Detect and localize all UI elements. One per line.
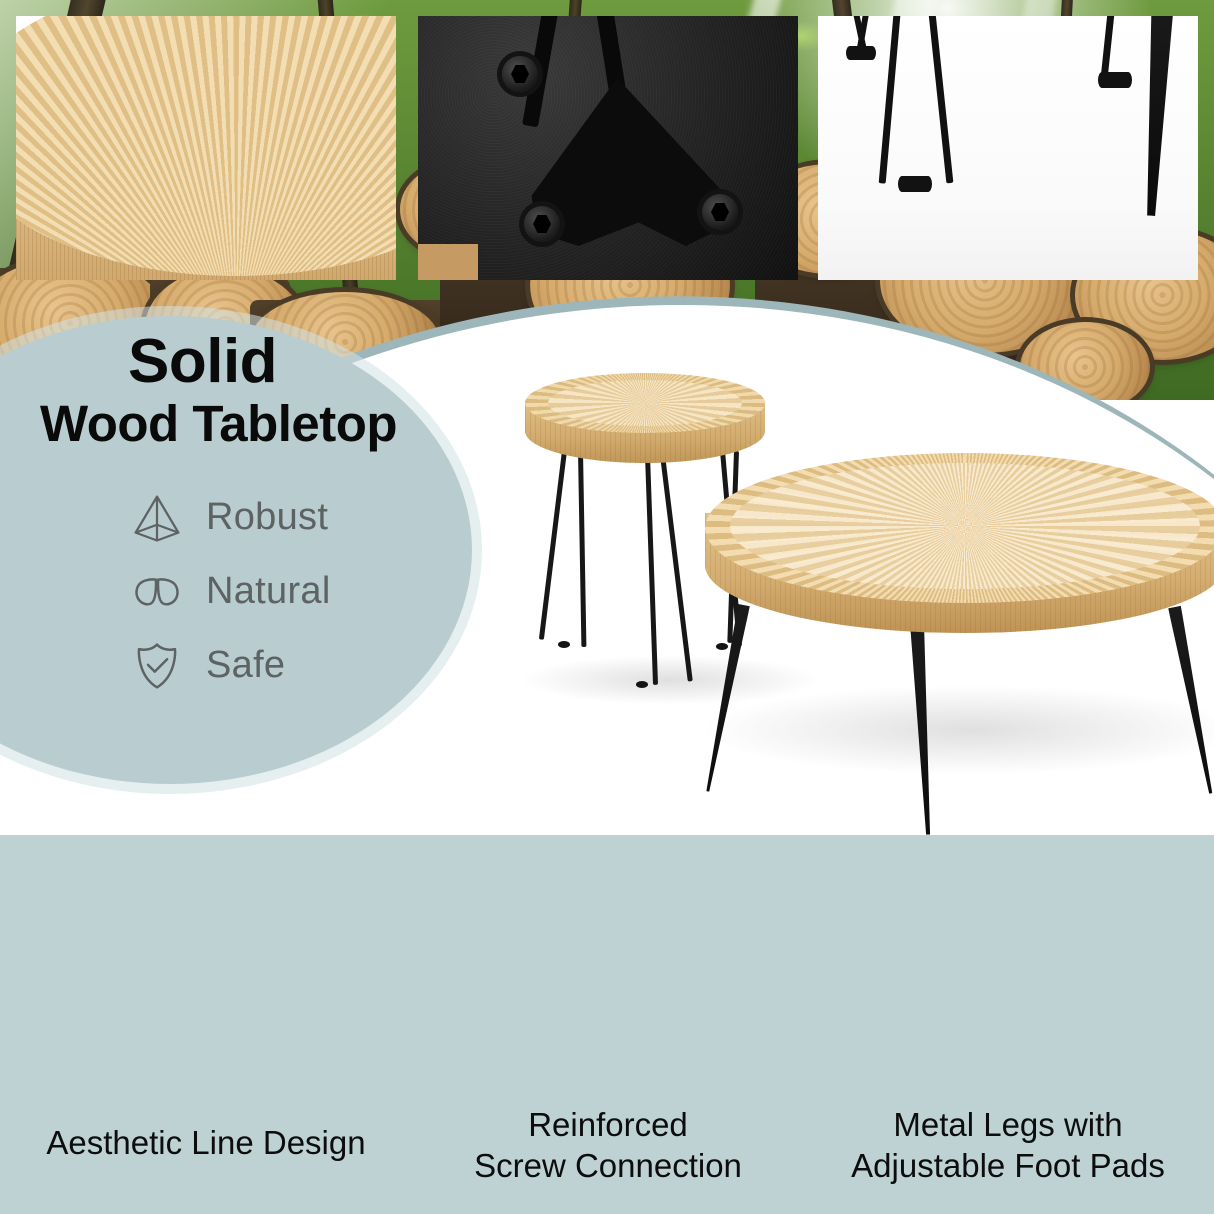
foot-pad [716, 643, 728, 650]
headline-line-1: Solid [0, 330, 460, 393]
adjustable-foot-pad [898, 176, 932, 192]
hex-bolt [702, 194, 738, 230]
side-table-sunburst [548, 380, 742, 426]
foot-pad [636, 681, 648, 688]
hex-bolt [524, 206, 560, 242]
table-shadow [700, 685, 1214, 775]
feature-label-natural: Natural [206, 570, 331, 613]
hairpin-leg [660, 455, 693, 682]
feature-panel-3-image [818, 16, 1198, 280]
feature-label-safe: Safe [206, 644, 285, 687]
feature-panel-2-image [418, 16, 798, 280]
feature-panel-strip [0, 835, 1214, 1214]
hex-bolt [502, 56, 538, 92]
adjustable-foot-pad [846, 46, 876, 60]
leaf-icon [126, 565, 188, 619]
foot-pad [558, 641, 570, 648]
hairpin-leg [578, 451, 586, 647]
feature-label-robust: Robust [206, 496, 328, 539]
wood-edge-corner [418, 244, 478, 280]
hairpin-leg [539, 451, 567, 640]
feature-list: Robust Natural Safe [0, 481, 460, 703]
coffee-table-sunburst [730, 463, 1200, 589]
headline-content: Solid Wood Tabletop Robust [0, 330, 460, 770]
shield-check-icon [126, 639, 188, 693]
product-marketing-image: Solid Wood Tabletop Robust [0, 0, 1214, 1214]
feature-panel-1-image [16, 16, 396, 280]
adjustable-foot-pad [1098, 72, 1132, 88]
hairpin-leg [645, 455, 658, 685]
tabletop-radial-grain [16, 16, 396, 276]
product-photo [430, 355, 1214, 835]
table-shadow [520, 655, 820, 705]
feature-item-robust: Robust [126, 481, 460, 555]
feature-item-natural: Natural [126, 555, 460, 629]
pyramid-icon [126, 491, 188, 545]
headline-line-2: Wood Tabletop [0, 393, 460, 451]
feature-item-safe: Safe [126, 629, 460, 703]
